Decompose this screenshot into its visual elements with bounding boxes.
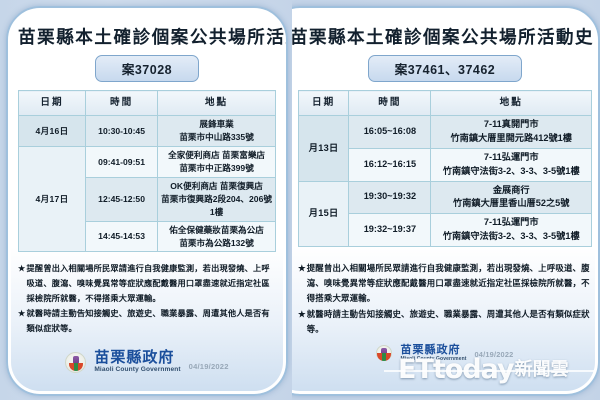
case-number-badge-right: 案37461、37462 [368, 55, 523, 82]
activity-table-right: 日期 時間 地點 月13日 16:05~16:08 7-11真開門市 竹南鎮大厝… [298, 90, 592, 247]
place-address: 苗栗市復興路2段204、206號1樓 [159, 193, 274, 219]
place-address: 苗栗市為公路132號 [159, 237, 274, 250]
table-row: 月13日 16:05~16:08 7-11真開門市 竹南鎮大厝里開元路412號1… [299, 116, 592, 149]
place-name: 展鋒車業 [159, 118, 274, 131]
table-header-row: 日期 時間 地點 [19, 91, 276, 116]
place-address: 苗栗市中山路335號 [159, 131, 274, 144]
cell-date: 月13日 [299, 116, 349, 181]
cell-time: 16:12~16:15 [349, 148, 431, 181]
cell-date: 月15日 [299, 181, 349, 246]
page-title-left: 苗栗縣本土確診個案公共場所活動史 [18, 24, 276, 49]
cell-place: 佑全保健藥妝苗栗為公店 苗栗市為公路132號 [158, 221, 276, 252]
miaoli-county-seal-icon [65, 352, 86, 373]
cell-time: 19:32~19:37 [349, 214, 431, 247]
cell-time: 09:41-09:51 [86, 147, 158, 178]
note-text: 提醒曾出入相關場所民眾請進行自我健康監測，若出現發燒、上呼吸道、腹瀉、嗅味覺異常… [307, 261, 592, 306]
star-icon: ★ [18, 306, 26, 335]
cell-place: 7-11弘運門市 竹南鎮守法街3-2、3-3、3-5號1樓 [431, 148, 592, 181]
cell-place: 7-11真開門市 竹南鎮大厝里開元路412號1樓 [431, 116, 592, 149]
star-icon: ★ [298, 307, 306, 337]
cell-place: 金展商行 竹南鎮大厝里香山厝52之5號 [431, 181, 592, 214]
miaoli-county-seal-icon [376, 345, 392, 361]
note-item: ★ 提醒曾出入相關場所民眾請進行自我健康監測，若出現發燒、上呼吸道、腹瀉、嗅味覺… [298, 261, 592, 306]
agency-name-cn: 苗栗縣政府 [94, 350, 180, 366]
star-icon: ★ [298, 261, 306, 306]
cell-time: 12:45-12:50 [86, 177, 158, 221]
table-header-row: 日期 時間 地點 [299, 91, 592, 116]
cell-date: 4月16日 [19, 116, 86, 147]
note-text: 提醒曾出入相關場所民眾請進行自我健康監測，若出現發燒、上呼吸道、腹瀉、嗅味覺異常… [27, 261, 276, 305]
note-item: ★ 就醫時請主動告知接觸史、旅遊史、職業暴露、周遭其他人是否有類似症狀等。 [298, 307, 592, 337]
column-header-date: 日期 [19, 91, 86, 116]
place-address: 苗栗市中正路399號 [159, 162, 274, 175]
place-address: 竹南鎮大厝里香山厝52之5號 [432, 197, 590, 211]
agency-name: 苗栗縣政府 Miaoli County Government [400, 344, 466, 362]
place-address: 竹南鎮守法街3-2、3-3、3-5號1樓 [432, 165, 590, 179]
place-name: 7-11弘運門市 [432, 151, 590, 165]
table-row: 4月16日 10:30-10:45 展鋒車業 苗栗市中山路335號 [19, 116, 276, 147]
notes-block-left: ★ 提醒曾出入相關場所民眾請進行自我健康監測，若出現發燒、上呼吸道、腹瀉、嗅味覺… [18, 261, 276, 336]
announcement-card-right: 苗栗縣本土確診個案公共場所活動史 案37461、37462 日期 時間 地點 月… [292, 6, 600, 396]
agency-name: 苗栗縣政府 Miaoli County Government [94, 350, 180, 374]
column-header-time: 時間 [86, 91, 158, 116]
place-name: 全家便利商店 苗栗富樂店 [159, 149, 274, 162]
place-name: 佑全保健藥妝苗栗為公店 [159, 224, 274, 237]
column-header-time: 時間 [349, 91, 431, 116]
poster-stage: 苗栗縣本土確診個案公共場所活動史 案37028 日期 時間 地點 4月16日 [0, 0, 600, 400]
cell-place: 展鋒車業 苗栗市中山路335號 [158, 116, 276, 147]
note-item: ★ 提醒曾出入相關場所民眾請進行自我健康監測，若出現發燒、上呼吸道、腹瀉、嗅味覺… [18, 261, 276, 305]
agency-name-cn: 苗栗縣政府 [400, 344, 466, 356]
agency-name-en: Miaoli County Government [94, 367, 180, 374]
note-text: 就醫時請主動告知接觸史、旅遊史、職業暴露、周遭其他人是否有類似症狀等。 [27, 306, 276, 335]
place-name: OK便利商店 苗栗復興店 [159, 180, 274, 193]
footer-left: 苗栗縣政府 Miaoli County Government 04/19/202… [18, 350, 276, 388]
star-icon: ★ [18, 261, 26, 305]
notes-block-right: ★ 提醒曾出入相關場所民眾請進行自我健康監測，若出現發燒、上呼吸道、腹瀉、嗅味覺… [298, 261, 592, 339]
cell-date: 4月17日 [19, 147, 86, 252]
panel-left: 苗栗縣本土確診個案公共場所活動史 案37028 日期 時間 地點 4月16日 [0, 0, 292, 400]
place-name: 7-11弘運門市 [432, 216, 590, 230]
panel-right: 苗栗縣本土確診個案公共場所活動史 案37461、37462 日期 時間 地點 月… [292, 0, 600, 400]
cell-time: 10:30-10:45 [86, 116, 158, 147]
publish-date: 04/19/2022 [475, 350, 514, 362]
place-address: 竹南鎮大厝里開元路412號1樓 [432, 132, 590, 146]
agency-name-en: Miaoli County Government [400, 357, 466, 362]
cell-time: 19:30~19:32 [349, 181, 431, 214]
cell-place: OK便利商店 苗栗復興店 苗栗市復興路2段204、206號1樓 [158, 177, 276, 221]
cell-place: 全家便利商店 苗栗富樂店 苗栗市中正路399號 [158, 147, 276, 178]
footer-right: 苗栗縣政府 Miaoli County Government 04/19/202… [298, 344, 592, 388]
table-row: 月15日 19:30~19:32 金展商行 竹南鎮大厝里香山厝52之5號 [299, 181, 592, 214]
column-header-place: 地點 [431, 91, 592, 116]
column-header-place: 地點 [158, 91, 276, 116]
column-header-date: 日期 [299, 91, 349, 116]
case-number-badge-left: 案37028 [95, 55, 199, 82]
cell-time: 16:05~16:08 [349, 116, 431, 149]
cell-place: 7-11弘運門市 竹南鎮守法街3-2、3-3、3-5號1樓 [431, 214, 592, 247]
place-address: 竹南鎮守法街3-2、3-3、3-5號1樓 [432, 230, 590, 244]
note-item: ★ 就醫時請主動告知接觸史、旅遊史、職業暴露、周遭其他人是否有類似症狀等。 [18, 306, 276, 335]
publish-date: 04/19/2022 [189, 362, 229, 374]
announcement-card-left: 苗栗縣本土確診個案公共場所活動史 案37028 日期 時間 地點 4月16日 [6, 6, 288, 396]
note-text: 就醫時請主動告知接觸史、旅遊史、職業暴露、周遭其他人是否有類似症狀等。 [307, 307, 592, 337]
cell-time: 14:45-14:53 [86, 221, 158, 252]
activity-table-left: 日期 時間 地點 4月16日 10:30-10:45 展鋒車業 苗栗市中山路33… [18, 90, 276, 252]
place-name: 7-11真開門市 [432, 118, 590, 132]
place-name: 金展商行 [432, 184, 590, 198]
table-row: 4月17日 09:41-09:51 全家便利商店 苗栗富樂店 苗栗市中正路399… [19, 147, 276, 178]
page-title-right: 苗栗縣本土確診個案公共場所活動史 [292, 24, 592, 49]
